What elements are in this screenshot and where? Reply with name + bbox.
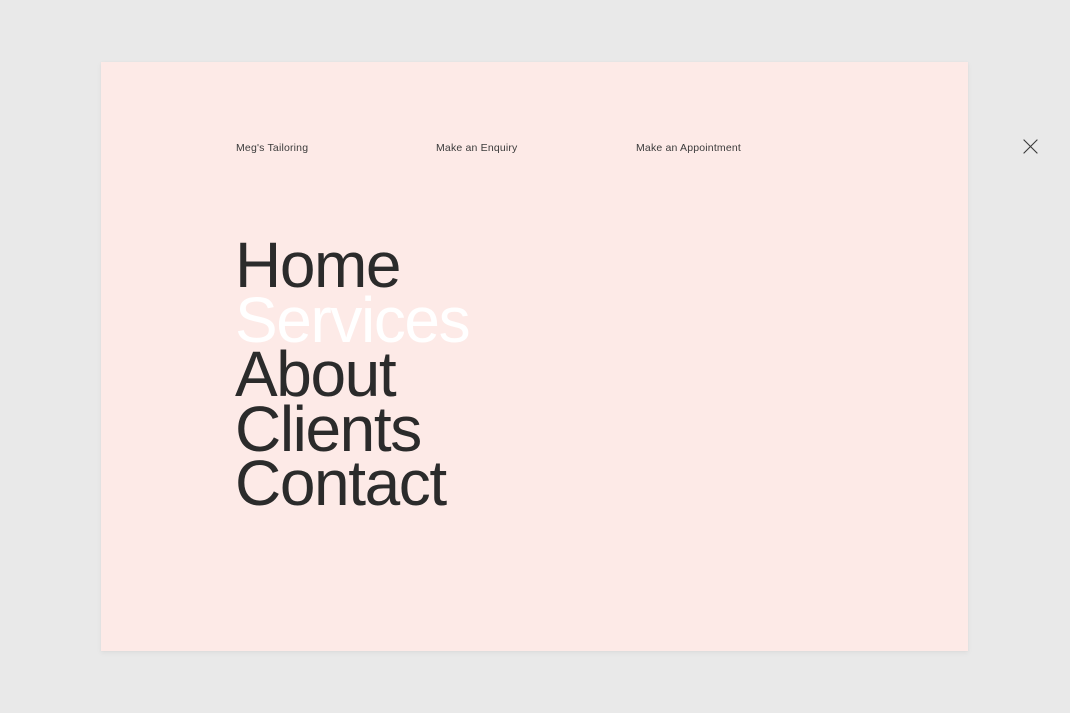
nav-item-contact[interactable]: Contact xyxy=(235,456,469,511)
overlay-topbar: Meg's Tailoring Make an Enquiry Make an … xyxy=(101,62,968,124)
brand-title[interactable]: Meg's Tailoring xyxy=(236,142,308,155)
page-background: Meg's Tailoring Make an Enquiry Make an … xyxy=(0,0,1070,713)
close-icon xyxy=(1023,139,1038,154)
main-navigation-list: Home Services About Clients Contact xyxy=(235,238,469,511)
fullscreen-menu-overlay: Meg's Tailoring Make an Enquiry Make an … xyxy=(101,62,968,651)
make-an-enquiry-link[interactable]: Make an Enquiry xyxy=(436,142,518,155)
make-an-appointment-link[interactable]: Make an Appointment xyxy=(636,142,741,155)
close-menu-button[interactable] xyxy=(1019,135,1041,157)
